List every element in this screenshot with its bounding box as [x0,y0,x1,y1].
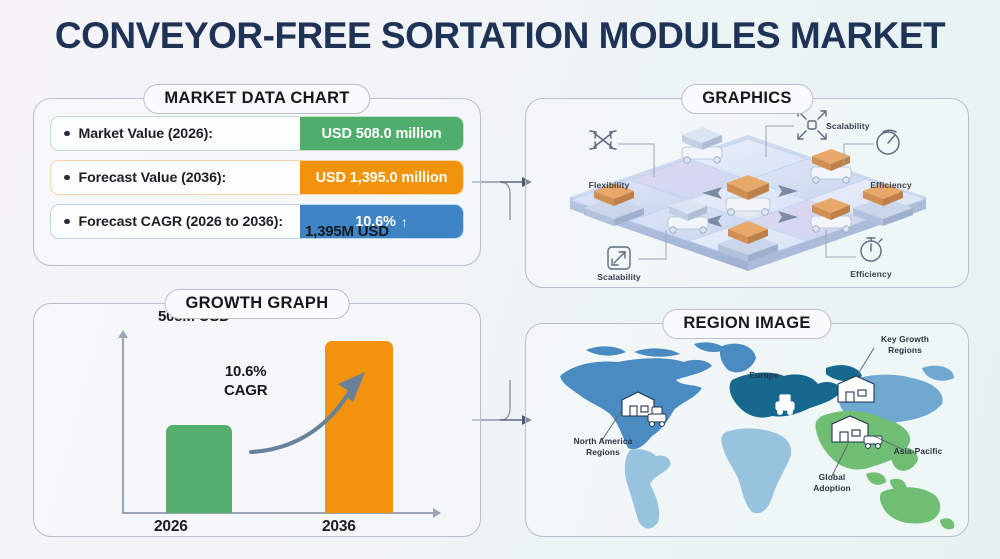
bullet-icon [64,219,70,225]
cagr-annotation-line1: 10.6% [224,362,267,381]
panel-graphics: GRAPHICS [525,98,969,288]
row-value-text: USD 1,395.0 million [316,170,448,186]
shuffle-arrows-icon [590,131,616,149]
row-value-chip: USD 1,395.0 million [300,161,463,194]
panel-title-growth-graph: GROWTH GRAPH [165,289,350,319]
warehouse-robot-illustration: Flexibility Scalability Efficiency Scala… [526,99,968,287]
growth-chart: 508M USD 1,395M USD 10.6% CAGR 2026 2036 [34,304,480,536]
infographic-canvas: CONVEYOR-FREE SORTATION MODULES MARKET M… [0,0,1000,559]
map-label-line1: North America [548,436,658,447]
callout-label-scalability-top: Scalability [826,121,896,131]
map-label-asia-pacific: Asia-Pacific [878,446,958,457]
callout-label-efficiency-bottom: Efficiency [836,269,906,279]
map-label-line1: Global [794,472,870,483]
table-row[interactable]: Forecast CAGR (2026 to 2036): 10.6% ↑ [50,204,464,239]
region-greenland [720,344,756,373]
row-label-cell: Market Value (2026): [51,117,300,150]
panel-growth-graph: GROWTH GRAPH 508M USD 1,395M USD 10.6% C… [33,303,481,537]
panel-title-market-data: MARKET DATA CHART [143,84,370,114]
cagr-growth-arrow-icon [249,364,394,464]
map-label-key-growth-regions: Key Growth Regions [862,334,948,355]
panel-title-region-image: REGION IMAGE [662,309,831,339]
map-label-global-adoption: Global Adoption [794,472,870,493]
arrow-out-square-icon [608,247,630,269]
gauge-icon [877,130,899,154]
region-central-south-america [625,449,671,528]
expand-arrows-icon [798,111,826,139]
panel-region-image: REGION IMAGE [525,323,969,537]
table-row[interactable]: Forecast Value (2036): USD 1,395.0 milli… [50,160,464,195]
map-label-line2: Regions [862,345,948,356]
row-label-text: Market Value (2026): [79,126,213,142]
stopwatch-icon [861,238,882,261]
bullet-icon [64,175,70,181]
trend-up-icon: ↑ [401,215,408,229]
region-africa [721,428,791,513]
row-label-text: Forecast CAGR (2026 to 2036): [79,214,283,230]
robot-top [682,127,722,163]
cagr-annotation: 10.6% CAGR [224,362,267,400]
map-label-line1: Key Growth [862,334,948,345]
row-label-cell: Forecast Value (2036): [51,161,300,194]
bar-2026 [166,425,232,513]
x-tick-2026: 2026 [154,518,188,536]
map-label-line2: Regions [548,447,658,458]
x-tick-2036: 2036 [322,518,356,536]
isometric-grid-svg [526,99,968,287]
cagr-annotation-line2: CAGR [224,381,267,400]
page-title: CONVEYOR-FREE SORTATION MODULES MARKET [0,14,1000,58]
row-label-text: Forecast Value (2036): [79,170,227,186]
panel-market-data-chart: MARKET DATA CHART Market Value (2026): U… [33,98,481,266]
market-data-row-list: Market Value (2026): USD 508.0 million F… [50,116,464,239]
map-label-north-america: North America Regions [548,436,658,457]
table-row[interactable]: Market Value (2026): USD 508.0 million [50,116,464,151]
world-map-svg [526,324,968,536]
map-label-line2: Adoption [794,483,870,494]
callout-label-efficiency-top: Efficiency [856,180,926,190]
map-label-europe: Europe [734,370,794,381]
bullet-icon [64,131,70,137]
bar-value-label-2036: 1,395M USD [305,223,389,240]
region-australia [880,487,954,529]
panel-title-graphics: GRAPHICS [681,84,813,114]
row-value-chip: USD 508.0 million [300,117,463,150]
callout-label-flexibility: Flexibility [574,180,644,190]
row-value-text: USD 508.0 million [322,126,442,142]
callout-label-scalability-bottom: Scalability [584,272,654,282]
row-label-cell: Forecast CAGR (2026 to 2036): [51,205,300,238]
world-map-illustration: North America Regions Europe Key Growth … [526,324,968,536]
